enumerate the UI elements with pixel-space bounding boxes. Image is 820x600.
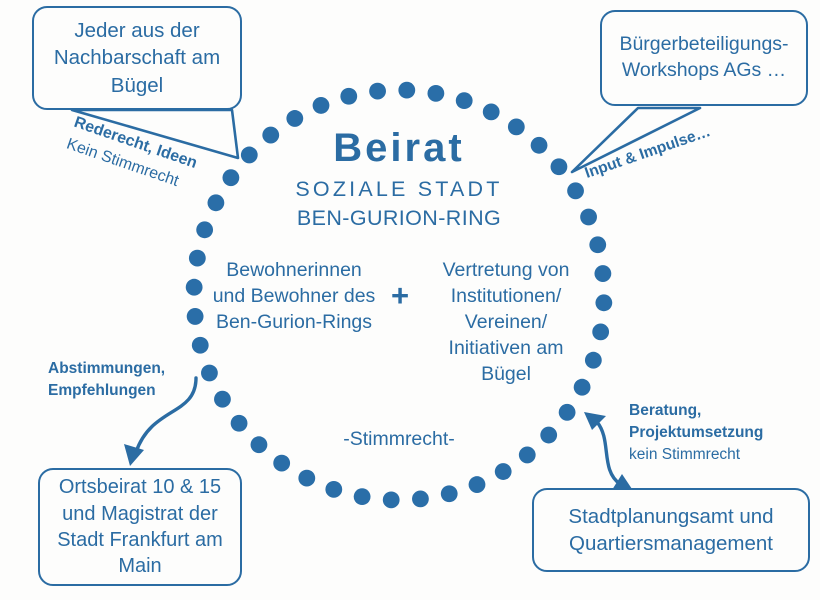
column-institutions: Vertretung von Institutionen/ Vereinen/ … <box>422 258 590 388</box>
ring-dot <box>313 97 330 114</box>
arrow-beratung-head-up <box>584 412 606 430</box>
ring-dot <box>456 92 473 109</box>
arrow-abstimmungen-head <box>124 444 144 466</box>
ring-dot <box>214 391 231 408</box>
ring-dot <box>441 485 458 502</box>
caption-beratung: Beratung, Projektumsetzung kein Stimmrec… <box>629 400 763 466</box>
box-ortsbeirat-text: Ortsbeirat 10 & 15 und Magistrat der Sta… <box>48 474 232 580</box>
ring-dot <box>589 236 606 253</box>
ring-dot <box>559 404 576 421</box>
ring-dot <box>189 250 206 267</box>
ring-dot <box>483 104 500 121</box>
ring-dot <box>196 221 213 238</box>
ring-dot <box>595 294 612 311</box>
ring-dot <box>594 265 611 282</box>
ring-voting-note: -Stimmrecht- <box>279 428 519 451</box>
caption-beratung-line2: Projektumsetzung <box>629 422 763 444</box>
caption-abstimmungen-line1: Abstimmungen, <box>48 358 165 380</box>
caption-input: Input & Impulse… <box>582 121 714 184</box>
speech-bubble-participation[interactable]: Bürgerbeteiligungs- Workshops AGs … <box>600 10 808 106</box>
ring-dot <box>383 491 400 508</box>
ring-dot <box>325 481 342 498</box>
plus-icon: + <box>378 258 422 311</box>
ring-dot <box>354 488 371 505</box>
ring-dot <box>580 209 597 226</box>
speech-bubble-participation-text: Bürgerbeteiligungs- Workshops AGs … <box>610 32 798 83</box>
ring-dot <box>427 85 444 102</box>
ring-title-main: Beirat <box>229 128 569 169</box>
ring-dot <box>208 194 225 211</box>
box-ortsbeirat[interactable]: Ortsbeirat 10 & 15 und Magistrat der Sta… <box>38 468 242 586</box>
diagram-canvas: Jeder aus der Nachbarschaft am Bügel Bür… <box>0 0 820 600</box>
ring-dot <box>231 415 248 432</box>
ring-dot <box>398 82 415 99</box>
ring-title-block: Beirat SOZIALE STADT BEN-GURION-RING <box>229 128 569 233</box>
speech-bubble-neighbourhood[interactable]: Jeder aus der Nachbarschaft am Bügel <box>32 6 242 110</box>
ring-dot <box>540 427 557 444</box>
box-stadtplanungsamt-text: Stadtplanungsamt und Quartiersmanagement <box>544 503 798 557</box>
column-residents: Bewohnerinnen und Bewohner des Ben-Gurio… <box>210 258 378 336</box>
ring-dot <box>567 182 584 199</box>
ring-dot <box>495 463 512 480</box>
ring-dot <box>469 476 486 493</box>
ring-dot <box>340 88 357 105</box>
ring-dot <box>187 308 204 325</box>
ring-title-sub1: SOZIALE STADT <box>229 173 569 205</box>
ring-dot <box>186 279 203 296</box>
ring-dot <box>251 436 268 453</box>
caption-abstimmungen: Abstimmungen, Empfehlungen <box>48 358 165 402</box>
ring-dot <box>519 447 536 464</box>
caption-beratung-line1: Beratung, <box>629 400 763 422</box>
ring-dot <box>412 490 429 507</box>
arrow-beratung <box>597 422 620 484</box>
caption-rederecht: Rederecht, Ideen Kein Stimmrecht <box>63 112 200 197</box>
ring-dot <box>286 110 303 127</box>
ring-dot <box>298 470 315 487</box>
speech-bubble-neighbourhood-text: Jeder aus der Nachbarschaft am Bügel <box>44 17 230 98</box>
ring-dot <box>369 83 386 100</box>
ring-member-columns: Bewohnerinnen und Bewohner des Ben-Gurio… <box>205 258 595 388</box>
box-stadtplanungsamt[interactable]: Stadtplanungsamt und Quartiersmanagement <box>532 488 810 572</box>
ring-dot <box>273 455 290 472</box>
caption-abstimmungen-line2: Empfehlungen <box>48 380 165 402</box>
ring-title-sub2: BEN-GURION-RING <box>229 205 569 233</box>
caption-beratung-regular: kein Stimmrecht <box>629 444 763 466</box>
caption-input-bold: Input & Impulse… <box>582 121 714 184</box>
